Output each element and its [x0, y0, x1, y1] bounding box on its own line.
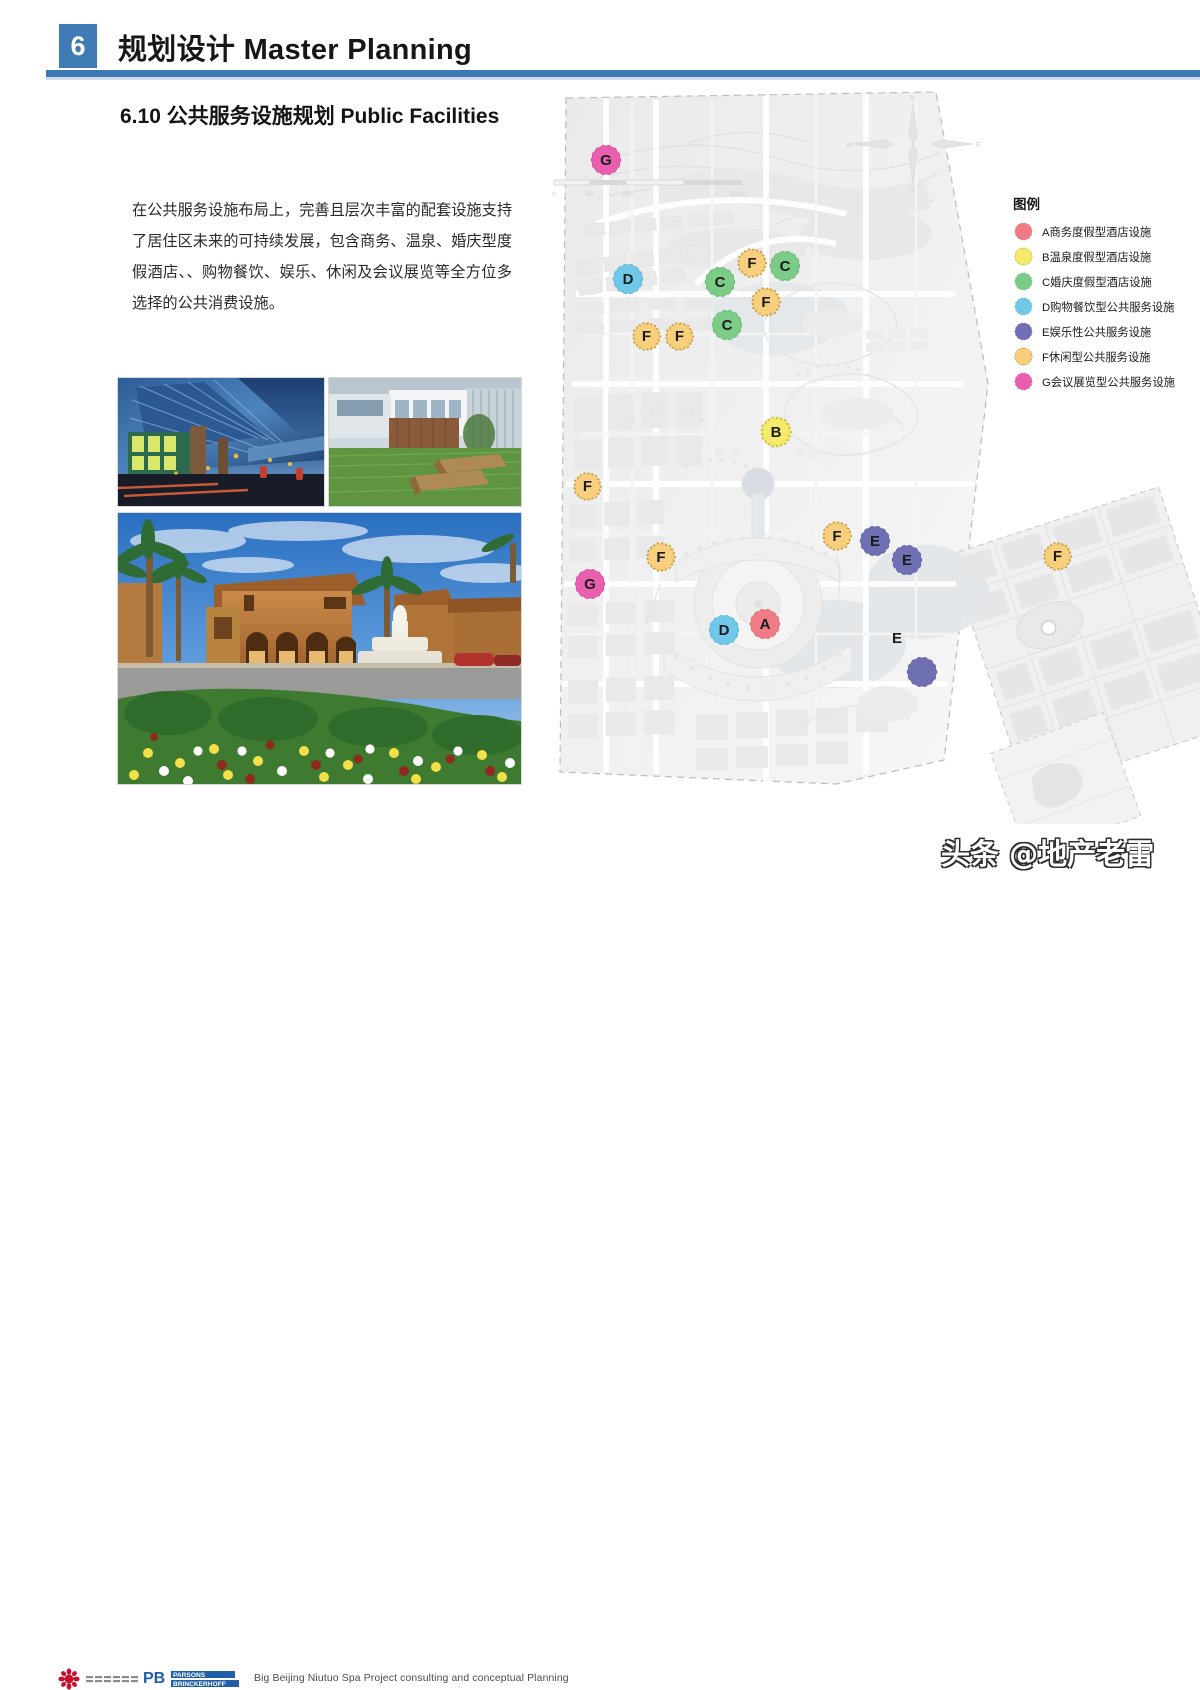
map-marker-f[interactable]: F	[735, 246, 769, 280]
map-marker-e[interactable]: E	[857, 523, 893, 559]
legend-swatch-a-icon	[1013, 221, 1034, 242]
header-rule	[46, 70, 1200, 77]
svg-text:200m: 200m	[730, 191, 746, 198]
legend-swatch-g-icon	[1013, 371, 1034, 392]
map-marker-f[interactable]: F	[820, 519, 854, 553]
map-marker-c[interactable]: C	[702, 264, 738, 300]
legend-label-a: A商务度假型酒店设施	[1042, 224, 1151, 240]
legend-item-d: D购物餐饮型公共服务设施	[1013, 294, 1195, 319]
logo-parsons-brinckerhoff: PB PARSONS BRINCKERHOFF	[143, 1668, 239, 1690]
map-marker-d[interactable]: D	[706, 612, 742, 648]
legend-item-b: B温泉度假型酒店设施	[1013, 244, 1195, 269]
logo-pb-line2: BRINCKERHOFF	[173, 1681, 226, 1688]
marker-blob-icon	[904, 654, 940, 690]
marker-code: B	[771, 425, 782, 440]
marker-code: F	[747, 256, 756, 271]
svg-text:0: 0	[552, 191, 556, 198]
legend-swatch-f-icon	[1013, 346, 1034, 367]
logo-pb-line1: PARSONS	[173, 1672, 206, 1679]
photo-mall-image	[118, 378, 324, 506]
legend-swatch-d-icon	[1013, 296, 1034, 317]
marker-code: D	[623, 272, 634, 287]
marker-code: F	[675, 329, 684, 344]
section-title: 6.10 公共服务设施规划 Public Facilities	[120, 100, 499, 130]
legend-label-e: E娱乐性公共服务设施	[1042, 324, 1151, 340]
marker-code: C	[722, 318, 733, 333]
photo-mall	[117, 377, 325, 507]
map-marker-f[interactable]: F	[663, 320, 696, 353]
marker-code: F	[583, 479, 592, 494]
page-title-cn: 规划设计	[118, 34, 235, 66]
svg-text:PB: PB	[143, 1670, 165, 1687]
map-marker-b[interactable]: B	[758, 414, 794, 450]
photo-campus	[328, 377, 522, 507]
map-marker-d[interactable]: D	[610, 261, 646, 297]
section-number-badge: 6	[59, 24, 97, 68]
page-header: 6 规划设计 Master Planning	[0, 0, 1200, 82]
legend-label-g: G会议展览型公共服务设施	[1042, 374, 1175, 390]
legend-rows: A商务度假型酒店设施B温泉度假型酒店设施C婚庆度假型酒店设施D购物餐饮型公共服务…	[1013, 219, 1195, 394]
svg-text:E: E	[976, 142, 981, 149]
legend-title: 图例	[1013, 193, 1195, 213]
map-marker-c[interactable]: C	[709, 307, 745, 343]
map-marker-label-e: E	[892, 630, 902, 647]
legend-label-f: F休闲型公共服务设施	[1042, 349, 1151, 365]
legend-label-b: B温泉度假型酒店设施	[1042, 249, 1151, 265]
map-marker-g[interactable]: G	[572, 566, 608, 602]
marker-code: G	[584, 577, 596, 592]
svg-text:100: 100	[622, 191, 633, 198]
svg-text:W: W	[846, 142, 853, 149]
map-marker-g[interactable]: G	[588, 142, 624, 178]
map-marker-f[interactable]: F	[644, 540, 678, 574]
svg-text:N: N	[910, 95, 915, 102]
watermark: 头条 @地产老雷	[941, 831, 1154, 873]
svg-text:50: 50	[586, 191, 594, 198]
map-marker-a[interactable]: A	[747, 606, 783, 642]
page-title: 规划设计 Master Planning	[118, 26, 472, 68]
legend-label-d: D购物餐饮型公共服务设施	[1042, 299, 1174, 315]
legend-swatch-c-icon	[1013, 271, 1034, 292]
legend-item-g: G会议展览型公共服务设施	[1013, 369, 1195, 394]
marker-code: C	[715, 275, 726, 290]
marker-code: F	[656, 550, 665, 565]
legend-item-c: C婚庆度假型酒店设施	[1013, 269, 1195, 294]
marker-code: E	[902, 553, 912, 568]
header-rule-shadow	[46, 77, 1200, 80]
map-marker-f[interactable]: F	[630, 320, 663, 353]
legend-swatch-b-icon	[1013, 246, 1034, 267]
marker-code: F	[832, 529, 841, 544]
legend-label-c: C婚庆度假型酒店设施	[1042, 274, 1152, 290]
page-title-en: Master Planning	[244, 34, 473, 66]
map-legend: 图例 A商务度假型酒店设施B温泉度假型酒店设施C婚庆度假型酒店设施D购物餐饮型公…	[1013, 193, 1195, 394]
footer-project-text: Big Beijing Niutuo Spa Project consultin…	[254, 1673, 569, 1684]
marker-code: D	[719, 623, 730, 638]
marker-code: A	[760, 617, 771, 632]
photo-resort	[117, 512, 522, 785]
marker-code: G	[600, 153, 612, 168]
map-marker-e[interactable]: E	[889, 542, 925, 578]
map-marker-e[interactable]	[904, 654, 940, 690]
photo-resort-image	[118, 513, 521, 784]
legend-item-e: E娱乐性公共服务设施	[1013, 319, 1195, 344]
map-marker-f[interactable]: F	[571, 470, 604, 503]
legend-item-a: A商务度假型酒店设施	[1013, 219, 1195, 244]
marker-code: E	[870, 534, 880, 549]
marker-code: C	[780, 259, 791, 274]
svg-text:S: S	[910, 189, 915, 196]
marker-code: F	[1053, 549, 1062, 564]
legend-swatch-e-icon	[1013, 321, 1034, 342]
map-marker-f[interactable]: F	[1041, 540, 1074, 573]
marker-code: F	[642, 329, 651, 344]
legend-item-f: F休闲型公共服务设施	[1013, 344, 1195, 369]
body-paragraph: 在公共服务设施布局上，完善且层次丰富的配套设施支持了居住区未来的可持续发展，包含…	[132, 195, 512, 319]
marker-code: F	[761, 295, 770, 310]
map-marker-c[interactable]: C	[767, 248, 803, 284]
map-marker-f[interactable]: F	[749, 285, 783, 319]
photo-campus-image	[329, 378, 521, 506]
